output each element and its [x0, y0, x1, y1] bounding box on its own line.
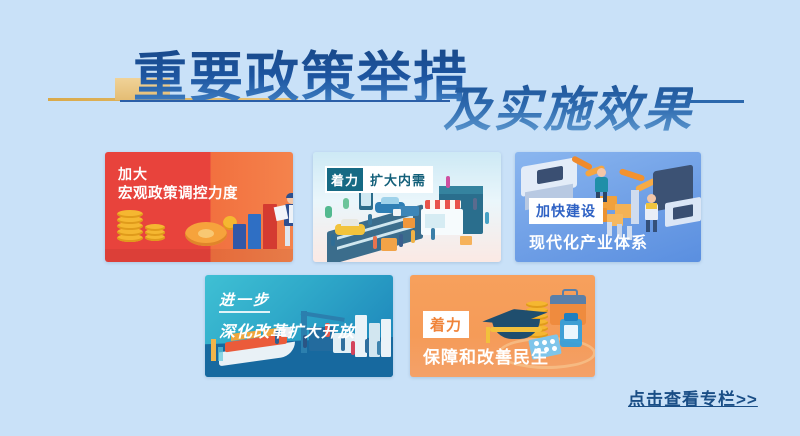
card1-caption-bottom: 宏观政策调控力度 [118, 184, 238, 205]
policy-card-livelihood[interactable]: 着力 保障和改善民生 [410, 275, 595, 377]
card2-caption-bottom: 扩大内需 [363, 166, 433, 193]
card5-caption-bottom: 保障和改善民生 [423, 343, 549, 368]
card5-caption: 着力 保障和改善民生 [423, 311, 549, 368]
card4-caption-bottom: 深化改革扩大开放 [219, 318, 355, 342]
poster-stage: 重要政策举措 及实施效果 [0, 0, 800, 436]
card5-caption-top: 着力 [423, 311, 469, 338]
policy-card-expand-demand[interactable]: 着力扩大内需 [313, 152, 501, 262]
view-column-link[interactable]: 点击查看专栏>> [628, 385, 758, 410]
card2-caption: 着力扩大内需 [325, 166, 433, 193]
card4-caption: 进一步 深化改革扩大开放 [219, 289, 355, 342]
card3-caption-bottom: 现代化产业体系 [529, 229, 648, 253]
card3-caption: 加快建设 现代化产业体系 [529, 198, 648, 253]
card1-caption-top: 加大 [118, 164, 238, 184]
title-trailing-dash [686, 100, 744, 103]
card2-caption-top: 着力 [325, 166, 365, 193]
card1-caption: 加大 宏观政策调控力度 [118, 164, 238, 205]
title-underline [120, 100, 450, 102]
policy-card-macro-control[interactable]: 加大 宏观政策调控力度 [105, 152, 293, 262]
poster-header: 重要政策举措 及实施效果 [0, 0, 800, 140]
policy-card-deepen-reform[interactable]: 进一步 深化改革扩大开放 [205, 275, 393, 377]
card4-caption-top: 进一步 [219, 289, 270, 313]
page-title-line2: 及实施效果 [443, 70, 693, 140]
policy-card-modern-industry[interactable]: 加快建设 现代化产业体系 [515, 152, 701, 262]
card3-caption-top: 加快建设 [529, 198, 603, 224]
